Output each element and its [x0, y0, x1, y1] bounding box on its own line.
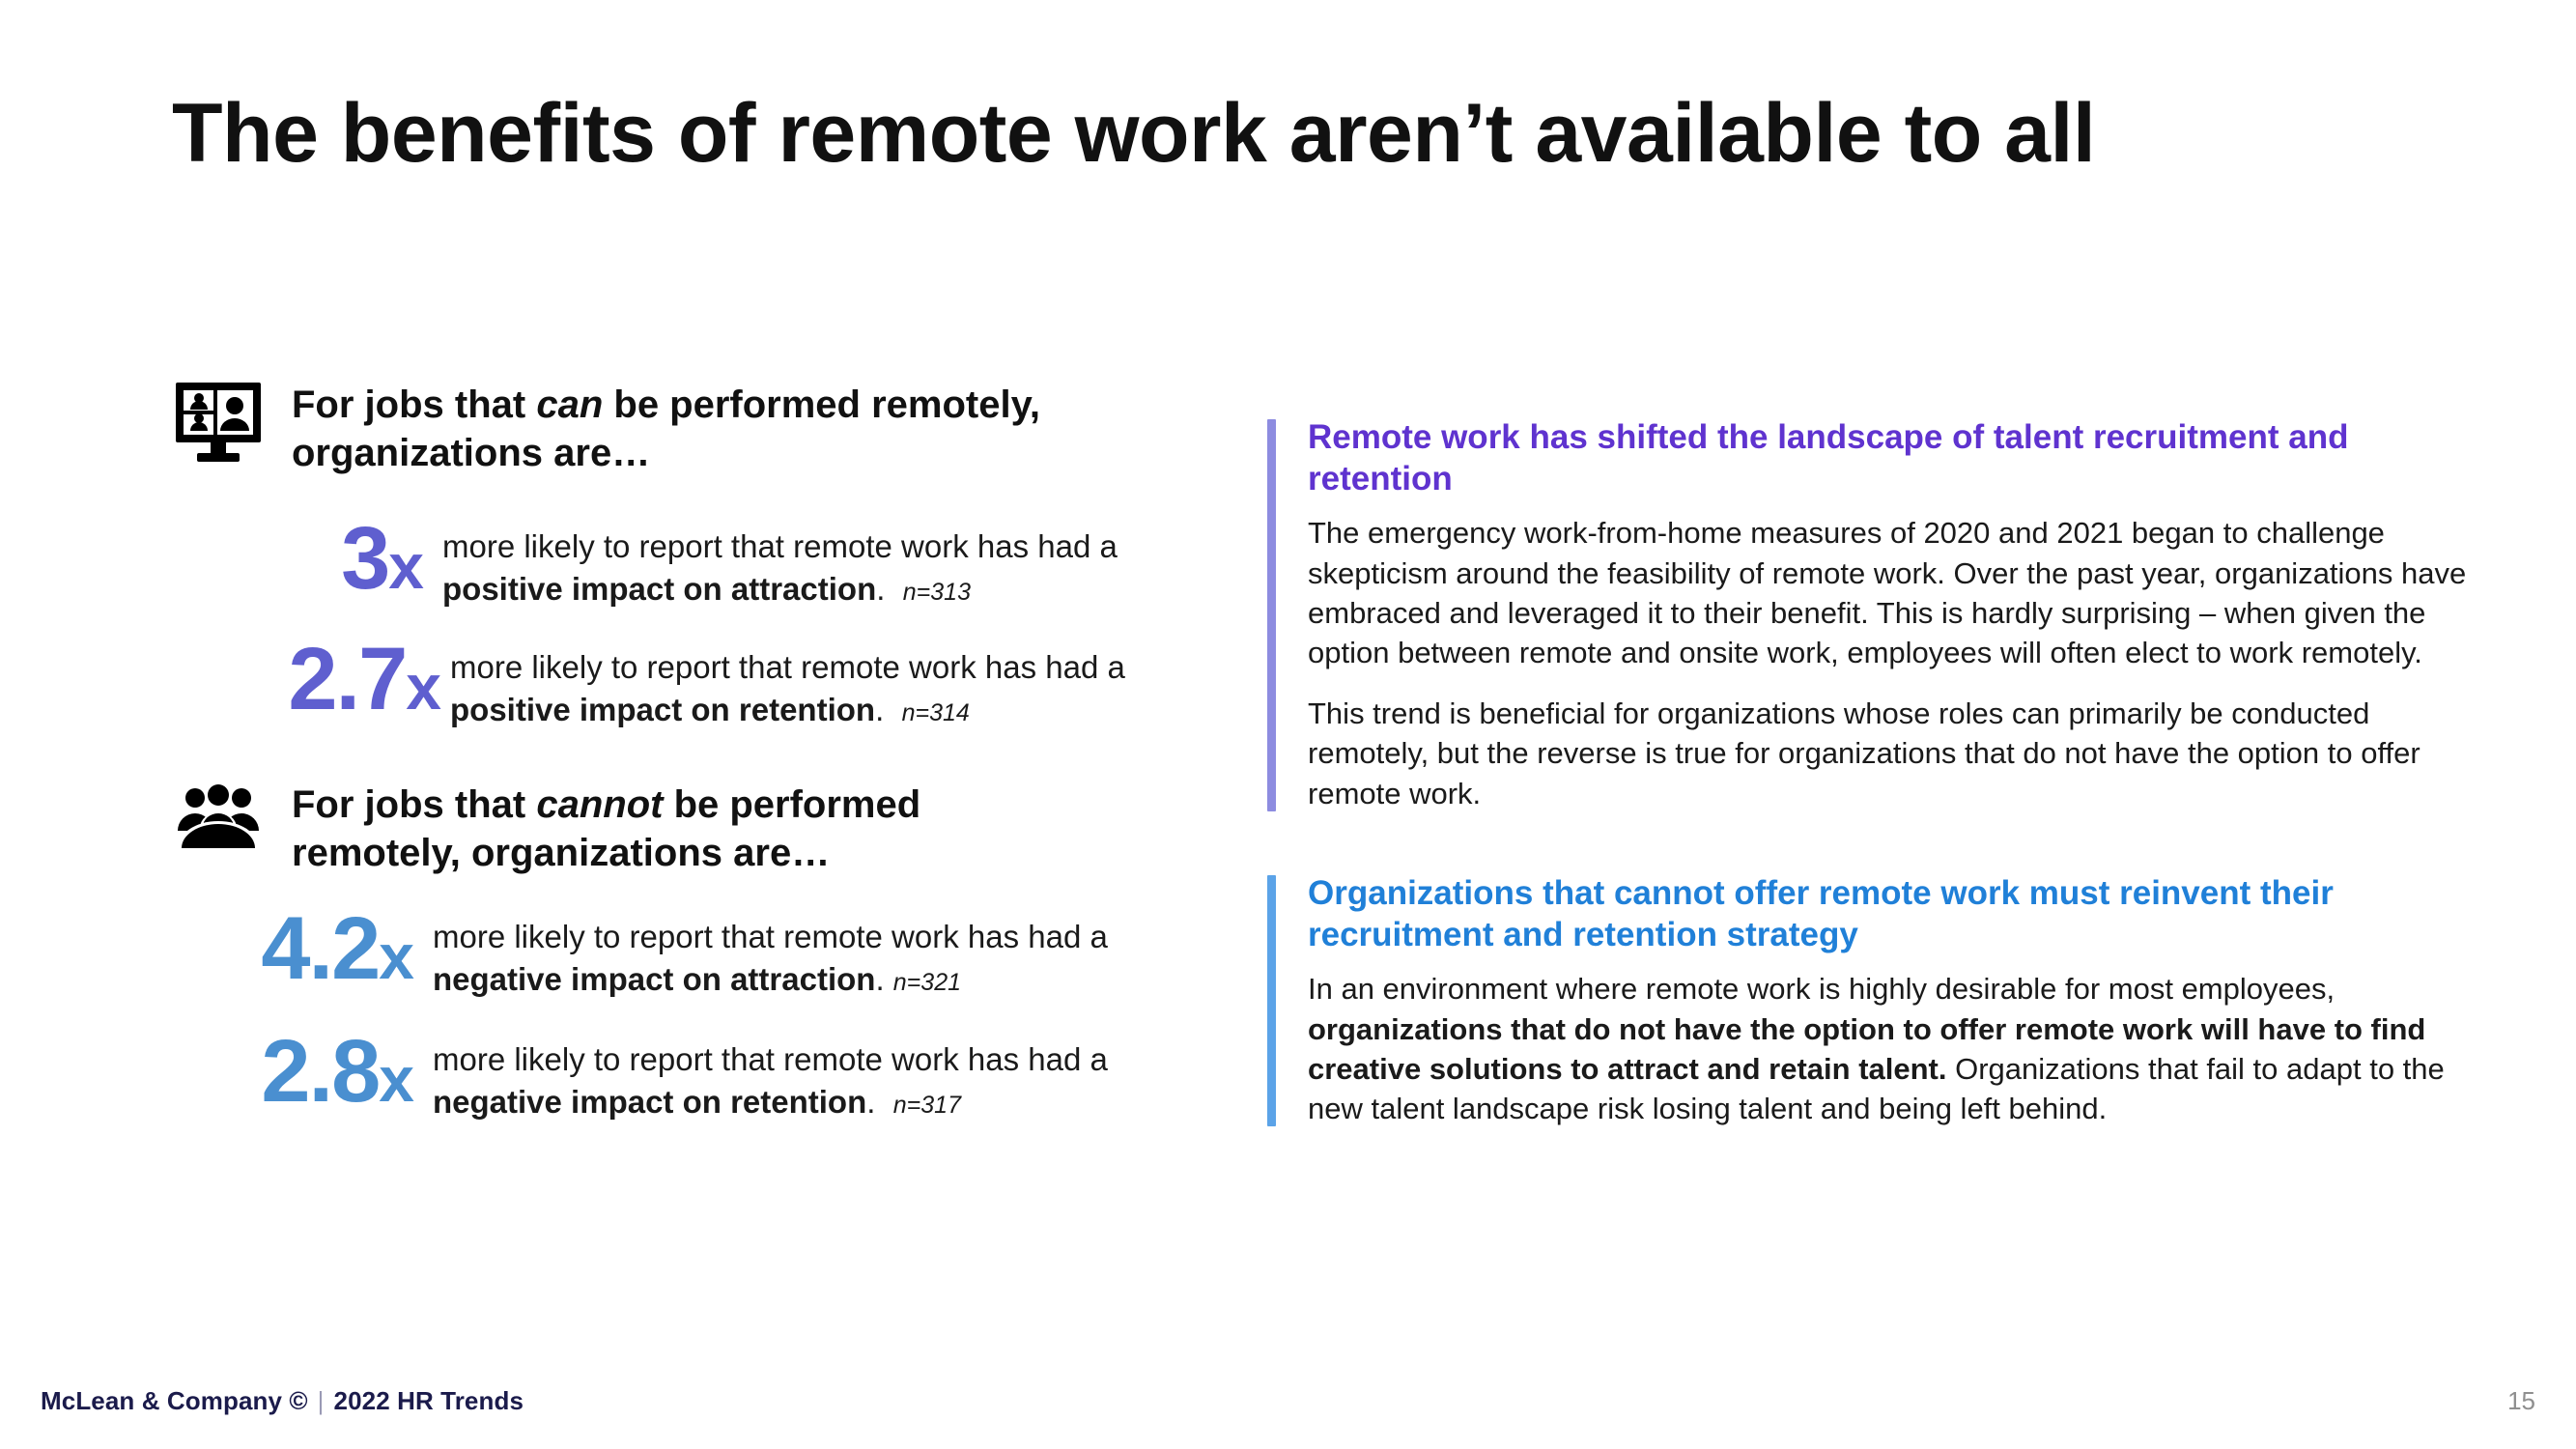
people-group-icon: [172, 777, 265, 873]
section-header-pre: For jobs that: [292, 384, 536, 426]
video-conference-monitor-icon: [172, 377, 265, 473]
stat-text-lead: more likely to report that remote work h…: [450, 649, 1125, 685]
stat-value: 4.2x: [172, 904, 433, 993]
stat-description: more likely to report that remote work h…: [433, 904, 1196, 1000]
section-header-pre: For jobs that: [292, 783, 536, 826]
callout-heading: Organizations that cannot offer remote w…: [1308, 873, 2494, 955]
stat-text-lead: more likely to report that remote work h…: [433, 919, 1108, 954]
callout-paragraph: This trend is beneficial for organizatio…: [1308, 694, 2494, 813]
stat-text-bold: positive impact on retention: [450, 692, 875, 727]
stat-number: 4.2: [261, 899, 379, 998]
footer-brand: McLean & Company ©: [41, 1386, 308, 1415]
callout-remote-work-shifted: Remote work has shifted the landscape of…: [1267, 417, 2494, 813]
stat-text-tail: .: [866, 1084, 875, 1120]
stat-row: 2.8x more likely to report that remote w…: [172, 1027, 1196, 1122]
footer: McLean & Company ©|2022 HR Trends: [41, 1386, 524, 1416]
stat-text-bold: positive impact on attraction: [442, 571, 876, 607]
section-header-emphasis: can: [536, 384, 603, 426]
section-header-cannot-be-remote: For jobs that cannot be performed remote…: [172, 777, 1196, 877]
stat-row: 3x more likely to report that remote wor…: [172, 514, 1196, 610]
footer-deck-name: 2022 HR Trends: [334, 1386, 524, 1415]
callout-accent-bar: [1267, 419, 1276, 811]
stat-sample-size: n=321: [893, 969, 961, 996]
page-title: The benefits of remote work aren’t avail…: [172, 89, 2297, 179]
footer-separator: |: [308, 1386, 334, 1415]
section-header-text: For jobs that cannot be performed remote…: [292, 777, 1064, 877]
stat-description: more likely to report that remote work h…: [442, 514, 1196, 610]
stat-sample-size: n=313: [903, 579, 971, 606]
stat-number: 2.8: [261, 1022, 379, 1121]
left-column: For jobs that can be performed remotely,…: [172, 377, 1196, 1122]
stat-text-tail: .: [875, 692, 884, 727]
stat-description: more likely to report that remote work h…: [450, 635, 1196, 730]
callout-organizations-must-reinvent: Organizations that cannot offer remote w…: [1267, 873, 2494, 1128]
callout-text-lead: In an environment where remote work is h…: [1308, 972, 2335, 1006]
stat-text-lead: more likely to report that remote work h…: [433, 1041, 1108, 1077]
stat-value: 2.7x: [172, 635, 450, 724]
stat-text-tail: .: [876, 571, 885, 607]
stat-text-bold: negative impact on retention: [433, 1084, 866, 1120]
callout-paragraph: In an environment where remote work is h…: [1308, 969, 2494, 1128]
stat-value: 2.8x: [172, 1027, 433, 1116]
callout-accent-bar: [1267, 875, 1276, 1126]
stat-row: 4.2x more likely to report that remote w…: [172, 904, 1196, 1000]
stat-number: 3: [341, 509, 388, 608]
section-header-can-be-remote: For jobs that can be performed remotely,…: [172, 377, 1196, 477]
callout-heading: Remote work has shifted the landscape of…: [1308, 417, 2494, 499]
stat-suffix: x: [379, 1043, 413, 1115]
stat-suffix: x: [388, 530, 423, 602]
right-column: Remote work has shifted the landscape of…: [1267, 417, 2494, 1128]
stat-text-tail: .: [875, 961, 884, 997]
stat-sample-size: n=317: [893, 1092, 961, 1119]
stat-number: 2.7: [288, 630, 406, 728]
stat-description: more likely to report that remote work h…: [433, 1027, 1196, 1122]
callout-paragraph: The emergency work-from-home measures of…: [1308, 513, 2494, 672]
section-header-emphasis: cannot: [536, 783, 663, 826]
stat-text-bold: negative impact on attraction: [433, 961, 875, 997]
stat-row: 2.7x more likely to report that remote w…: [172, 635, 1196, 730]
stat-text-lead: more likely to report that remote work h…: [442, 528, 1118, 564]
stat-suffix: x: [406, 651, 440, 723]
stat-value: 3x: [172, 514, 442, 603]
page-number: 15: [2507, 1386, 2535, 1416]
stat-suffix: x: [379, 921, 413, 992]
section-header-text: For jobs that can be performed remotely,…: [292, 377, 1064, 477]
stat-sample-size: n=314: [902, 699, 970, 726]
